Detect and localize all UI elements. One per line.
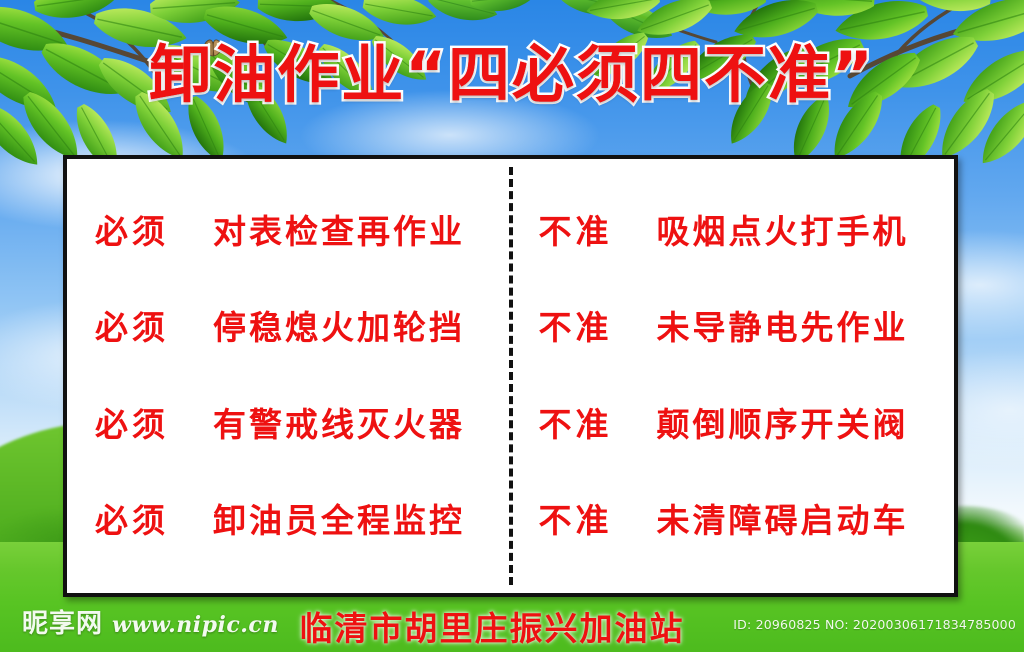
- must-column: 必须 对表检查再作业 必须 停稳熄火加轮挡 必须 有警戒线灭火器 必须 卸油员全…: [67, 159, 511, 593]
- rules-columns: 必须 对表检查再作业 必须 停稳熄火加轮挡 必须 有警戒线灭火器 必须 卸油员全…: [67, 159, 954, 593]
- poster-canvas: 卸油作业“四必须四不准” 卸油作业“四必须四不准” 必须 对表检查再作业 必须 …: [0, 0, 1024, 652]
- rule-text: 未导静电先作业: [657, 311, 909, 344]
- table-row: 必须 对表检查再作业: [67, 215, 511, 248]
- rule-keyword: 不准: [539, 504, 657, 537]
- table-row: 不准 未清障碍启动车: [511, 504, 955, 537]
- page-title: 卸油作业“四必须四不准”: [0, 44, 1024, 106]
- watermark-brand-cn: 昵享网: [22, 603, 103, 640]
- rule-keyword: 不准: [539, 215, 657, 248]
- rule-text: 卸油员全程监控: [213, 504, 465, 537]
- watermark-id-text: ID: 20960825 NO: 20200306171834785000: [733, 617, 1016, 632]
- rules-panel: 必须 对表检查再作业 必须 停稳熄火加轮挡 必须 有警戒线灭火器 必须 卸油员全…: [63, 155, 958, 597]
- rule-text: 吸烟点火打手机: [657, 215, 909, 248]
- rule-text: 停稳熄火加轮挡: [213, 311, 465, 344]
- table-row: 必须 停稳熄火加轮挡: [67, 311, 511, 344]
- prohibit-column: 不准 吸烟点火打手机 不准 未导静电先作业 不准 颠倒顺序开关阀 不准 未清障碍…: [511, 159, 955, 593]
- watermark-brand-url: www.nipic.cn: [112, 612, 279, 638]
- rule-keyword: 必须: [95, 215, 213, 248]
- table-row: 必须 有警戒线灭火器: [67, 408, 511, 441]
- rule-text: 对表检查再作业: [213, 215, 465, 248]
- rule-text: 颠倒顺序开关阀: [657, 408, 909, 441]
- site-watermark: 昵享网 www.nipic.cn: [22, 603, 279, 640]
- table-row: 不准 吸烟点火打手机: [511, 215, 955, 248]
- rule-text: 有警戒线灭火器: [213, 408, 465, 441]
- rule-keyword: 必须: [95, 408, 213, 441]
- table-row: 不准 颠倒顺序开关阀: [511, 408, 955, 441]
- table-row: 不准 未导静电先作业: [511, 311, 955, 344]
- table-row: 必须 卸油员全程监控: [67, 504, 511, 537]
- rule-keyword: 不准: [539, 408, 657, 441]
- rule-text: 未清障碍启动车: [657, 504, 909, 537]
- rule-keyword: 必须: [95, 504, 213, 537]
- rule-keyword: 不准: [539, 311, 657, 344]
- rule-keyword: 必须: [95, 311, 213, 344]
